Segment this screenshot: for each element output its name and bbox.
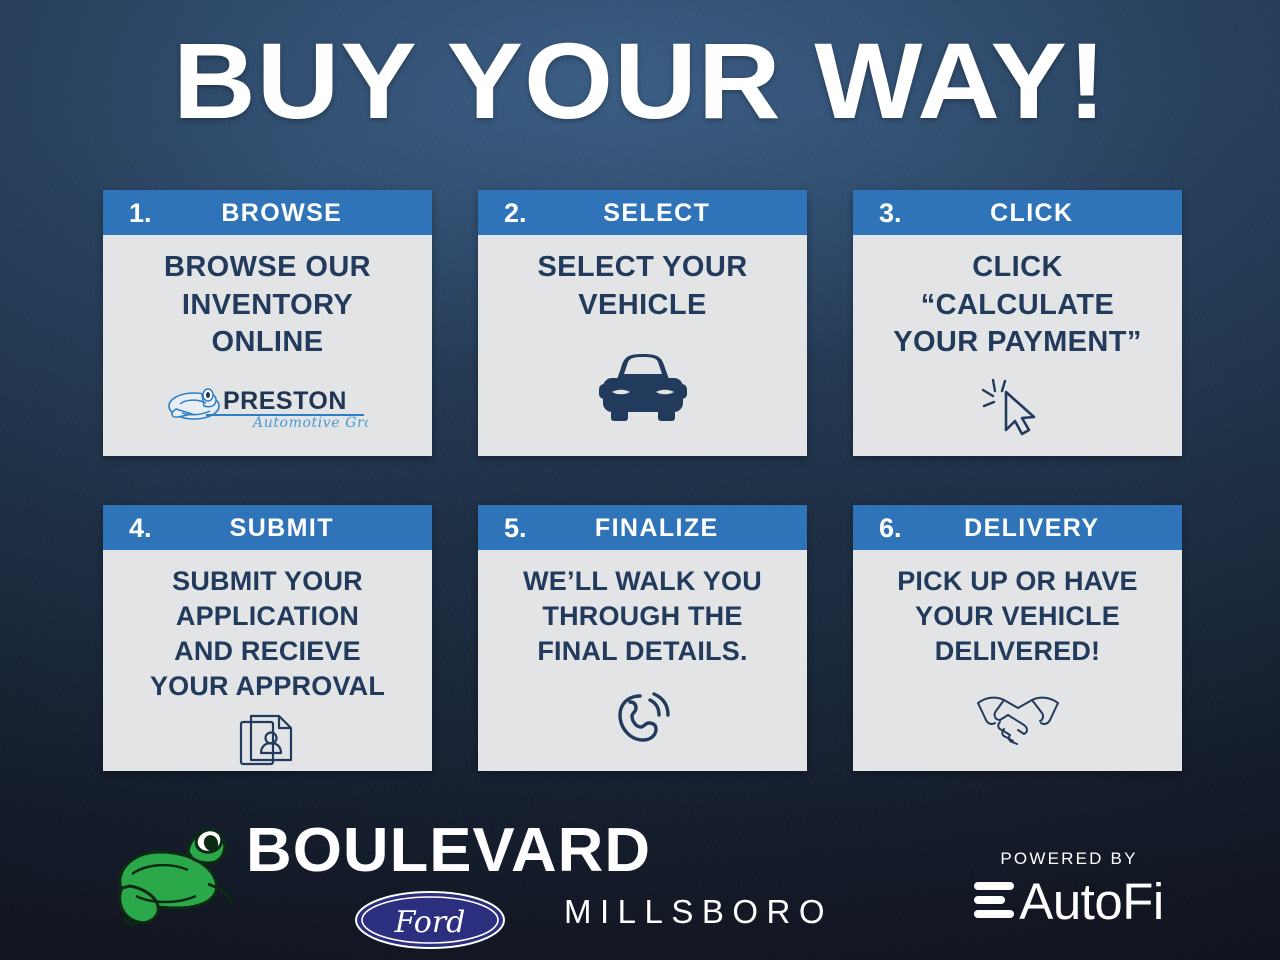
dealer-name: BOULEVARD	[246, 820, 651, 882]
ford-logo: Ford	[354, 890, 506, 950]
step-description: CLICK “CALCULATE YOUR PAYMENT”	[893, 249, 1142, 362]
step-number: 3.	[879, 199, 902, 227]
steps-grid: 1. BROWSE BROWSE OUR INVENTORY ONLINE	[103, 190, 1183, 771]
step-card-header: 4. SUBMIT	[103, 505, 432, 550]
step-icon-area: PRESTON Automotive Group	[113, 362, 422, 446]
handshake-icon	[972, 689, 1064, 745]
step-card-click[interactable]: 3. CLICK CLICK “CALCULATE YOUR PAYMENT”	[853, 190, 1182, 456]
svg-text:Ford: Ford	[394, 905, 466, 940]
step-description: SELECT YOUR VEHICLE	[537, 249, 747, 324]
svg-text:PRESTON: PRESTON	[223, 387, 347, 415]
step-card-finalize[interactable]: 5. FINALIZE WE’LL WALK YOU THROUGH THE F…	[478, 505, 807, 771]
autofi-wordmark: AutoFi	[1019, 876, 1163, 927]
step-icon-area	[863, 362, 1172, 446]
step-description: WE’LL WALK YOU THROUGH THE FINAL DETAILS…	[523, 564, 762, 669]
step-card-header: 5. FINALIZE	[478, 505, 807, 550]
step-number: 2.	[504, 199, 527, 227]
dealer-brand-lockup: BOULEVARD Ford MILLSBORO	[112, 812, 772, 942]
step-number: 1.	[129, 199, 152, 227]
step-card-header: 6. DELIVERY	[853, 505, 1182, 550]
step-label: SUBMIT	[152, 515, 426, 541]
mouse-cursor-click-icon	[981, 374, 1055, 438]
step-description: PICK UP OR HAVE YOUR VEHICLE DELIVERED!	[897, 564, 1138, 669]
step-label: CLICK	[902, 200, 1176, 226]
step-icon-area	[113, 704, 422, 770]
powered-by-autofi: POWERED BY AutoFi	[944, 850, 1194, 927]
step-card-body: SUBMIT YOUR APPLICATION AND RECIEVE YOUR…	[103, 550, 432, 771]
step-card-body: PICK UP OR HAVE YOUR VEHICLE DELIVERED!	[853, 550, 1182, 771]
step-card-body: SELECT YOUR VEHICLE	[478, 235, 807, 456]
preston-automotive-group-logo: PRESTON Automotive Group	[113, 382, 422, 430]
promotional-poster: BUY YOUR WAY! 1. BROWSE BROWSE OUR INVEN…	[0, 0, 1280, 960]
step-description: SUBMIT YOUR APPLICATION AND RECIEVE YOUR…	[150, 564, 385, 704]
dealer-location: MILLSBORO	[564, 895, 833, 928]
application-document-icon	[237, 708, 299, 770]
step-icon-area	[488, 669, 797, 761]
step-card-browse[interactable]: 1. BROWSE BROWSE OUR INVENTORY ONLINE	[103, 190, 432, 456]
step-card-submit[interactable]: 4. SUBMIT SUBMIT YOUR APPLICATION AND RE…	[103, 505, 432, 771]
page-title: BUY YOUR WAY!	[0, 22, 1280, 140]
autofi-logo: AutoFi	[944, 876, 1194, 927]
preston-logo-svg: PRESTON Automotive Group	[168, 382, 368, 430]
step-card-header: 1. BROWSE	[103, 190, 432, 235]
step-label: FINALIZE	[527, 515, 801, 541]
step-card-body: CLICK “CALCULATE YOUR PAYMENT”	[853, 235, 1182, 456]
powered-by-label: POWERED BY	[944, 850, 1194, 867]
step-label: BROWSE	[152, 200, 426, 226]
step-card-delivery[interactable]: 6. DELIVERY PICK UP OR HAVE YOUR VEHICLE…	[853, 505, 1182, 771]
step-card-header: 3. CLICK	[853, 190, 1182, 235]
step-card-body: WE’LL WALK YOU THROUGH THE FINAL DETAILS…	[478, 550, 807, 771]
green-frog-mascot-icon	[112, 826, 240, 930]
phone-call-icon	[610, 686, 676, 748]
step-label: DELIVERY	[902, 515, 1176, 541]
step-number: 6.	[879, 514, 902, 542]
step-card-header: 2. SELECT	[478, 190, 807, 235]
step-label: SELECT	[527, 200, 801, 226]
ford-logo-svg: Ford	[354, 890, 506, 950]
autofi-bars-icon	[974, 882, 1014, 921]
step-number: 4.	[129, 514, 152, 542]
frog-svg	[112, 826, 240, 930]
svg-text:Automotive Group: Automotive Group	[251, 415, 368, 430]
car-front-icon	[597, 348, 689, 426]
step-description: BROWSE OUR INVENTORY ONLINE	[164, 249, 371, 362]
step-icon-area	[863, 669, 1172, 761]
footer-branding: BOULEVARD Ford MILLSBORO POWERED BY Auto…	[0, 812, 1280, 960]
step-number: 5.	[504, 514, 527, 542]
step-card-select[interactable]: 2. SELECT SELECT YOUR VEHICLE	[478, 190, 807, 456]
step-card-body: BROWSE OUR INVENTORY ONLINE	[103, 235, 432, 456]
step-icon-area	[488, 324, 797, 446]
